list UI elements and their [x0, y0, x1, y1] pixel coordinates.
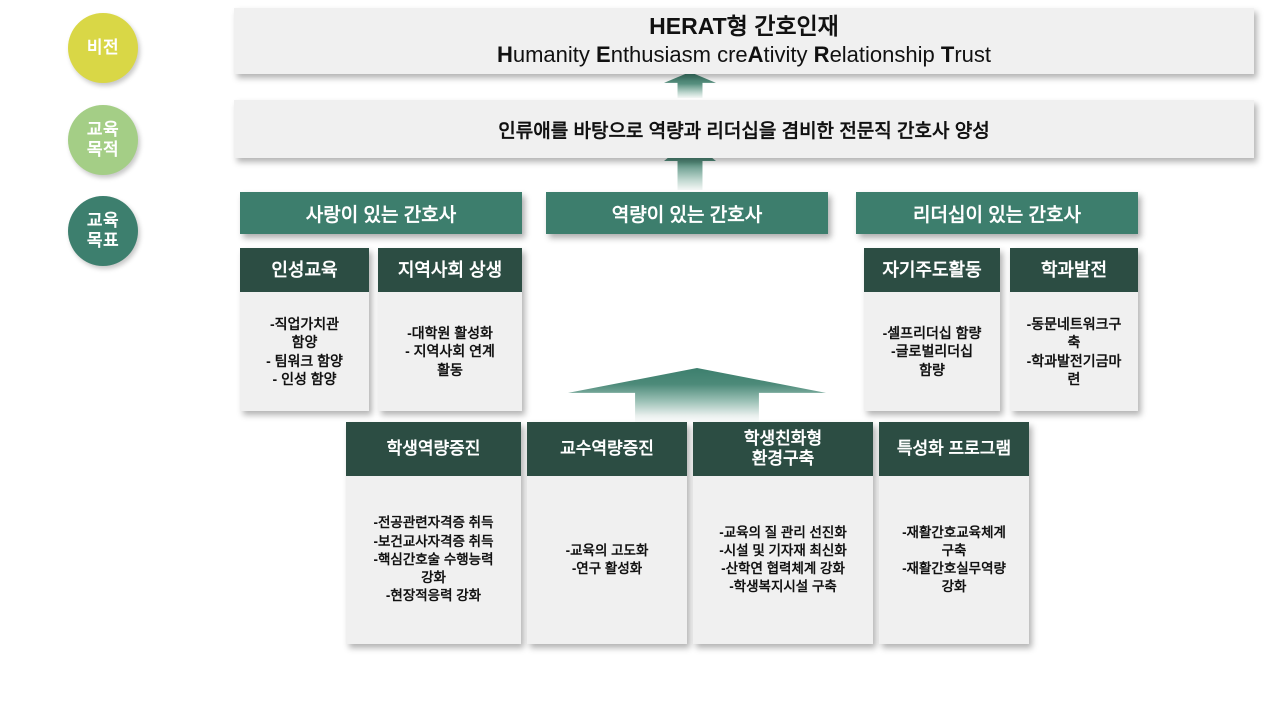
category-header-competency-label: 역량이 있는 간호사 [612, 200, 762, 227]
category-header-competency[interactable]: 역량이 있는 간호사 [546, 192, 828, 234]
arrow-up-to-vision [664, 72, 716, 98]
sidebar-item-goal-label-line1: 교육 [87, 211, 119, 231]
purpose-banner: 인류애를 바탕으로 역량과 리더십을 겸비한 전문직 간호사 양성 [234, 100, 1254, 158]
program-box-student-friendly-environment-body: -교육의 질 관리 선진화 -시설 및 기자재 최신화 -산학연 협력체계 강화… [693, 476, 873, 644]
program-box-student-competency-body: -전공관련자격증 취득 -보건교사자격증 취득 -핵심간호술 수행능력 강화 -… [346, 476, 521, 644]
program-box-student-friendly-environment[interactable]: 학생친화형 환경구축 -교육의 질 관리 선진화 -시설 및 기자재 최신화 -… [693, 422, 873, 644]
sub-box-department-development-body: -동문네트워크구 축 -학과발전기금마 련 [1010, 292, 1138, 411]
program-box-faculty-competency-header: 교수역량증진 [527, 422, 687, 476]
category-header-love-label: 사랑이 있는 간호사 [306, 200, 456, 227]
sub-box-character-education[interactable]: 인성교육 -직업가치관 함양 - 팀워크 함양 - 인성 함양 [240, 248, 369, 411]
acronym-letter-t: T [941, 42, 954, 67]
program-box-student-friendly-environment-header: 학생친화형 환경구축 [693, 422, 873, 476]
sidebar-item-vision[interactable]: 비전 [68, 13, 138, 83]
sub-box-community-coexistence[interactable]: 지역사회 상생 -대학원 활성화 - 지역사회 연계 활동 [378, 248, 522, 411]
program-box-student-competency[interactable]: 학생역량증진 -전공관련자격증 취득 -보건교사자격증 취득 -핵심간호술 수행… [346, 422, 521, 644]
category-header-love[interactable]: 사랑이 있는 간호사 [240, 192, 522, 234]
acronym-letter-e: E [596, 42, 611, 67]
program-box-faculty-competency[interactable]: 교수역량증진 -교육의 고도화 -연구 활성화 [527, 422, 687, 644]
category-header-leadership[interactable]: 리더십이 있는 간호사 [856, 192, 1138, 234]
program-box-faculty-competency-body: -교육의 고도화 -연구 활성화 [527, 476, 687, 644]
sidebar-item-goal[interactable]: 교육 목표 [68, 196, 138, 266]
sub-box-character-education-body: -직업가치관 함양 - 팀워크 함양 - 인성 함양 [240, 292, 369, 411]
category-header-leadership-label: 리더십이 있는 간호사 [913, 200, 1081, 227]
purpose-banner-text: 인류애를 바탕으로 역량과 리더십을 겸비한 전문직 간호사 양성 [498, 116, 989, 143]
diagram-canvas: 비전 교육 목적 교육 목표 HERAT형 간호인재 Humanity Enth… [0, 0, 1280, 720]
program-box-student-competency-header: 학생역량증진 [346, 422, 521, 476]
sub-box-department-development[interactable]: 학과발전 -동문네트워크구 축 -학과발전기금마 련 [1010, 248, 1138, 411]
program-box-specialized-program-body: -재활간호교육체계 구축 -재활간호실무역량 강화 [879, 476, 1029, 644]
sub-box-department-development-header: 학과발전 [1010, 248, 1138, 292]
sub-box-community-coexistence-body: -대학원 활성화 - 지역사회 연계 활동 [378, 292, 522, 411]
sub-box-character-education-header: 인성교육 [240, 248, 369, 292]
arrow-up-to-competency [568, 368, 826, 422]
sub-box-community-coexistence-header: 지역사회 상생 [378, 248, 522, 292]
acronym-letter-r: R [814, 42, 830, 67]
sub-box-self-directed-activity-body: -셀프리더십 함량 -글로벌리더십 함량 [864, 292, 1000, 411]
acronym-letter-a: A [748, 42, 764, 67]
sidebar-item-purpose-label-line1: 교육 [87, 120, 119, 140]
acronym-letter-h: H [497, 42, 513, 67]
vision-banner-title: HERAT형 간호인재 [649, 12, 839, 41]
program-box-specialized-program-header: 특성화 프로그램 [879, 422, 1029, 476]
program-box-specialized-program[interactable]: 특성화 프로그램 -재활간호교육체계 구축 -재활간호실무역량 강화 [879, 422, 1029, 644]
sidebar-item-vision-label: 비전 [87, 38, 119, 58]
vision-banner: HERAT형 간호인재 Humanity Enthusiasm creAtivi… [234, 8, 1254, 74]
sidebar-item-purpose-label-line2: 목적 [87, 140, 119, 160]
sidebar-item-purpose[interactable]: 교육 목적 [68, 105, 138, 175]
sub-box-self-directed-activity[interactable]: 자기주도활동 -셀프리더십 함량 -글로벌리더십 함량 [864, 248, 1000, 411]
vision-banner-acronym: Humanity Enthusiasm creAtivity Relations… [497, 41, 991, 70]
sub-box-self-directed-activity-header: 자기주도활동 [864, 248, 1000, 292]
sidebar-item-goal-label-line2: 목표 [87, 231, 119, 251]
